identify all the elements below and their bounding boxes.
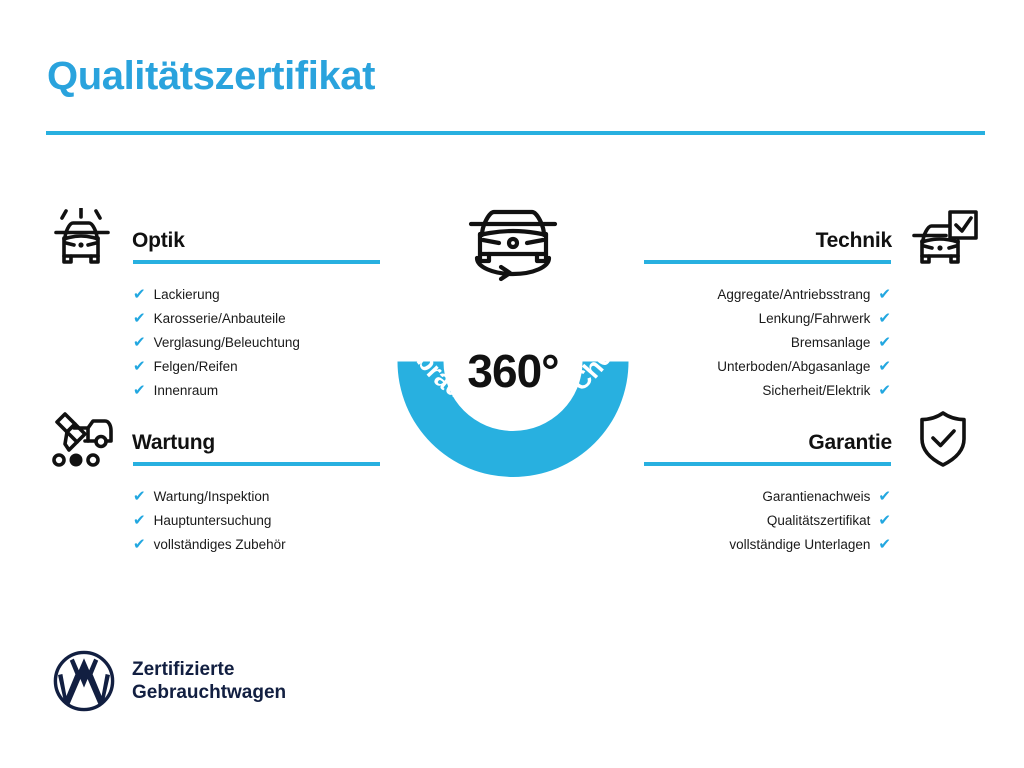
list-item-label: Felgen/Reifen [154,355,238,379]
list-item-label: Verglasung/Beleuchtung [154,331,300,355]
header-divider [46,131,985,135]
list-item: ✔Verglasung/Beleuchtung [44,331,389,355]
car-rotation-icon [463,196,563,282]
check-icon: ✔ [878,383,891,398]
list-item-label: Garantienachweis [762,485,870,509]
list-item: vollständige Unterlagen✔ [635,533,980,557]
section-technik-header: Technik [635,208,980,270]
section-wartung: Wartung ✔Wartung/Inspektion ✔Hauptunters… [44,410,389,557]
check-icon: ✔ [878,287,891,302]
section-wartung-title: Wartung [132,431,215,455]
section-wartung-list: ✔Wartung/Inspektion ✔Hauptuntersuchung ✔… [44,472,389,557]
check-icon: ✔ [878,311,891,326]
list-item-label: Unterboden/Abgasanlage [717,355,870,379]
check-icon: ✔ [133,383,146,398]
list-item: Sicherheit/Elektrik✔ [635,379,980,403]
badge-degrees: 360° [372,344,654,398]
vw-certified-footer: Zertifizierte Gebrauchtwagen [53,650,286,712]
list-item: Lenkung/Fahrwerk✔ [635,307,980,331]
section-wartung-header: Wartung [44,410,389,472]
list-item: ✔Innenraum [44,379,389,403]
list-item-label: Karosserie/Anbauteile [154,307,286,331]
check-icon: ✔ [133,335,146,350]
badge-360-gebrauchtwagen-check: Gebrauchtwagen-Check 360° [372,196,654,484]
list-item: Bremsanlage✔ [635,331,980,355]
section-technik-list: Aggregate/Antriebsstrang✔ Lenkung/Fahrwe… [635,270,980,403]
section-garantie-title: Garantie [808,431,892,455]
certificate-page: Qualitätszertifikat [0,0,1024,768]
list-item-label: vollständige Unterlagen [729,533,870,557]
list-item-label: Wartung/Inspektion [154,485,270,509]
list-item: ✔Hauptuntersuchung [44,509,389,533]
section-technik-divider [644,260,891,264]
check-icon: ✔ [133,287,146,302]
list-item-label: Bremsanlage [791,331,871,355]
list-item: Aggregate/Antriebsstrang✔ [635,283,980,307]
list-item-label: Sicherheit/Elektrik [762,379,870,403]
list-item-label: Qualitätszertifikat [767,509,871,533]
section-wartung-divider [133,462,380,466]
check-icon: ✔ [878,335,891,350]
section-optik-header: Optik [44,208,389,270]
list-item: Garantienachweis✔ [635,485,980,509]
section-optik: Optik ✔Lackierung ✔Karosserie/Anbauteile… [44,208,389,403]
list-item: ✔Felgen/Reifen [44,355,389,379]
page-title: Qualitätszertifikat [47,54,375,98]
list-item-label: Lackierung [154,283,220,307]
list-item-label: Hauptuntersuchung [154,509,272,533]
list-item: ✔vollständiges Zubehör [44,533,389,557]
vw-certified-wordmark: Zertifizierte Gebrauchtwagen [132,658,286,704]
check-icon: ✔ [878,513,891,528]
check-icon: ✔ [878,537,891,552]
check-icon: ✔ [133,311,146,326]
volkswagen-logo-icon [53,650,115,712]
list-item-label: Innenraum [154,379,219,403]
car-checkbox-icon [906,208,980,266]
check-icon: ✔ [133,489,146,504]
list-item-label: Aggregate/Antriebsstrang [717,283,870,307]
section-garantie-divider [644,462,891,466]
section-garantie: Garantie Garantienachweis✔ Qualitätszert… [635,410,980,557]
check-icon: ✔ [133,359,146,374]
section-technik-title: Technik [816,229,892,253]
section-technik: Technik Aggregate/Antriebsstrang✔ Lenkun… [635,208,980,403]
list-item-label: Lenkung/Fahrwerk [759,307,871,331]
shield-check-icon [906,410,980,468]
check-icon: ✔ [878,489,891,504]
check-icon: ✔ [133,537,146,552]
car-shine-icon [44,208,118,266]
section-optik-divider [133,260,380,264]
list-item: ✔Lackierung [44,283,389,307]
section-optik-list: ✔Lackierung ✔Karosserie/Anbauteile ✔Verg… [44,270,389,403]
list-item: Unterboden/Abgasanlage✔ [635,355,980,379]
section-garantie-header: Garantie [635,410,980,472]
section-garantie-list: Garantienachweis✔ Qualitätszertifikat✔ v… [635,472,980,557]
list-item: ✔Wartung/Inspektion [44,485,389,509]
section-optik-title: Optik [132,229,185,253]
vw-certified-line-2: Gebrauchtwagen [132,681,286,704]
list-item: Qualitätszertifikat✔ [635,509,980,533]
pen-car-service-icon [44,410,118,468]
list-item: ✔Karosserie/Anbauteile [44,307,389,331]
check-icon: ✔ [878,359,891,374]
vw-certified-line-1: Zertifizierte [132,658,286,681]
list-item-label: vollständiges Zubehör [154,533,286,557]
check-icon: ✔ [133,513,146,528]
